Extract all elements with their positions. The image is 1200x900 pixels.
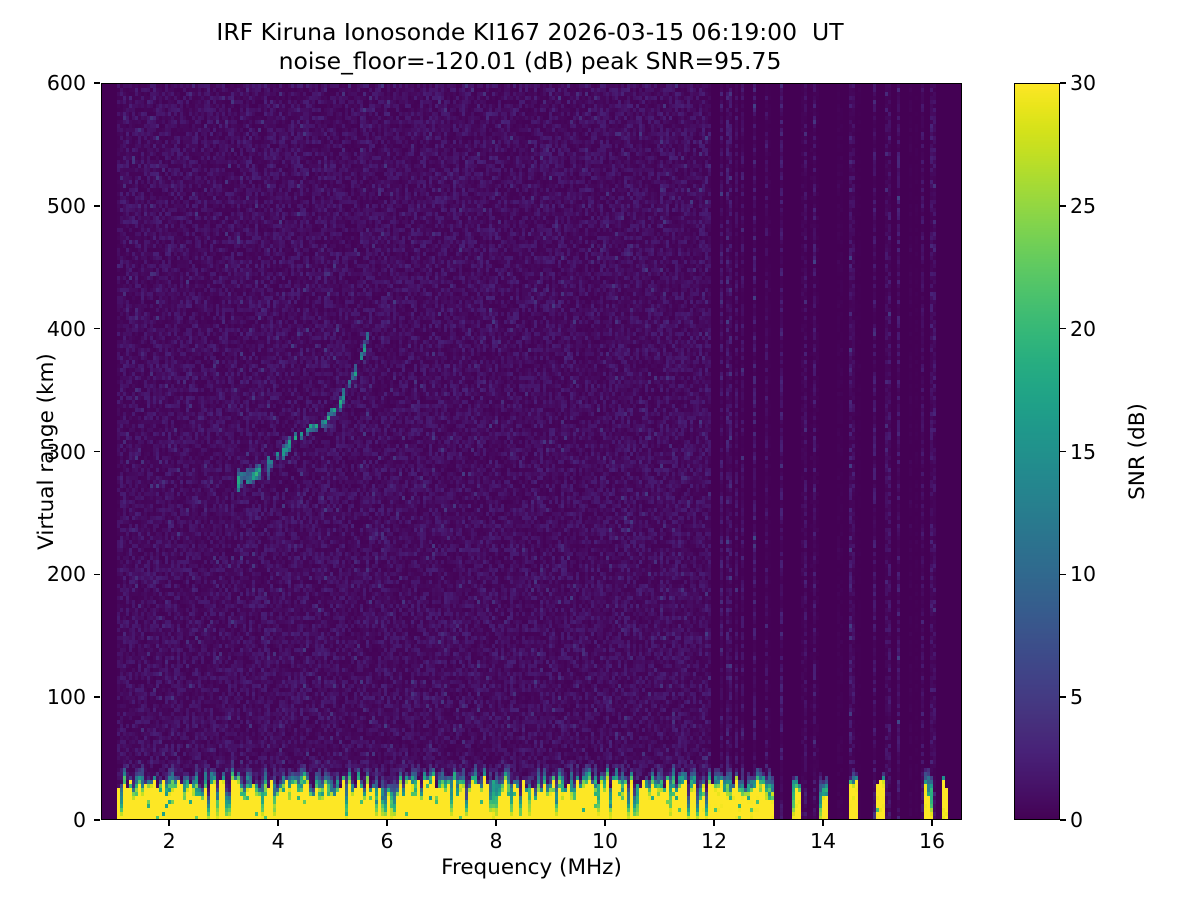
colorbar-tick-label: 5 xyxy=(1070,685,1083,709)
x-tick-mark xyxy=(168,820,169,826)
y-tick-mark xyxy=(94,82,100,83)
x-tick-label: 16 xyxy=(892,829,972,853)
colorbar-tick-mark xyxy=(1060,82,1066,83)
colorbar-tick-label: 20 xyxy=(1070,317,1096,341)
colorbar-tick-mark xyxy=(1060,574,1066,575)
ionogram-figure: IRF Kiruna Ionosonde KI167 2026-03-15 06… xyxy=(0,0,1200,900)
colorbar-tick-label: 30 xyxy=(1070,71,1096,95)
x-tick-mark xyxy=(931,820,932,826)
title-line-1: IRF Kiruna Ionosonde KI167 2026-03-15 06… xyxy=(0,18,1060,47)
figure-title: IRF Kiruna Ionosonde KI167 2026-03-15 06… xyxy=(0,18,1060,75)
x-tick-label: 6 xyxy=(347,829,427,853)
y-tick-mark xyxy=(94,819,100,820)
colorbar-tick-label: 10 xyxy=(1070,562,1096,586)
x-tick-mark xyxy=(822,820,823,826)
x-tick-mark xyxy=(277,820,278,826)
x-tick-label: 8 xyxy=(456,829,536,853)
y-tick-mark xyxy=(94,328,100,329)
colorbar-title: SNR (dB) xyxy=(1125,83,1150,820)
x-tick-mark xyxy=(713,820,714,826)
y-tick-mark xyxy=(94,696,100,697)
x-axis-title: Frequency (MHz) xyxy=(101,855,962,880)
colorbar-gradient xyxy=(1015,84,1060,820)
x-tick-mark xyxy=(604,820,605,826)
colorbar-tick-mark xyxy=(1060,451,1066,452)
colorbar-tick-mark xyxy=(1060,696,1066,697)
colorbar-tick-label: 25 xyxy=(1070,194,1096,218)
title-line-2: noise_floor=-120.01 (dB) peak SNR=95.75 xyxy=(0,47,1060,76)
y-tick-mark xyxy=(94,205,100,206)
x-tick-mark xyxy=(495,820,496,826)
x-tick-label: 4 xyxy=(238,829,318,853)
colorbar xyxy=(1014,83,1060,820)
x-tick-label: 10 xyxy=(565,829,645,853)
x-tick-mark xyxy=(386,820,387,826)
y-tick-mark xyxy=(94,451,100,452)
colorbar-tick-mark xyxy=(1060,328,1066,329)
colorbar-tick-label: 15 xyxy=(1070,440,1096,464)
colorbar-tick-label: 0 xyxy=(1070,808,1083,832)
y-axis-title: Virtual range (km) xyxy=(34,83,59,820)
x-tick-label: 14 xyxy=(783,829,863,853)
ionogram-plot-area xyxy=(101,83,962,820)
x-tick-label: 2 xyxy=(129,829,209,853)
colorbar-tick-mark xyxy=(1060,205,1066,206)
ionogram-heatmap-canvas xyxy=(102,84,962,820)
y-tick-mark xyxy=(94,574,100,575)
x-tick-label: 12 xyxy=(674,829,754,853)
colorbar-tick-mark xyxy=(1060,819,1066,820)
